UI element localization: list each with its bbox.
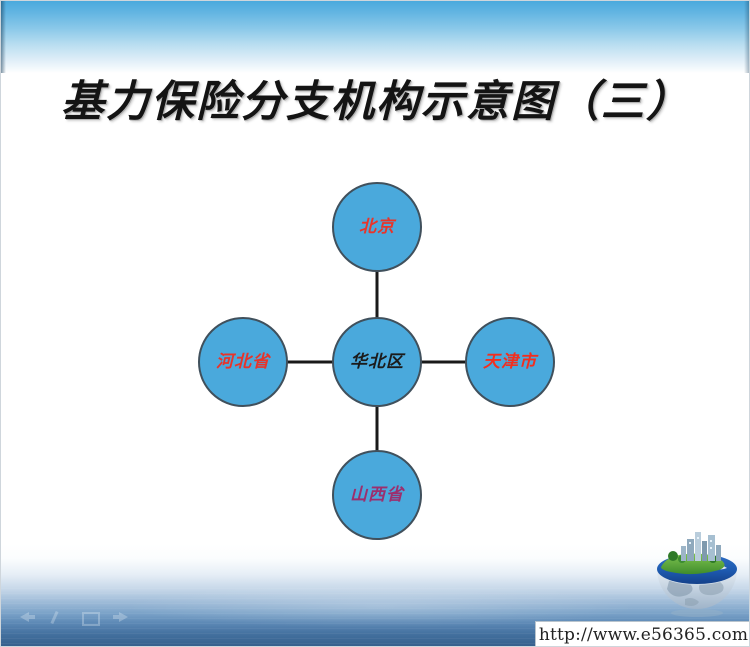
watermark-url-text: http://www.e56365.com bbox=[539, 625, 748, 645]
globe-reflection bbox=[671, 609, 723, 617]
city-skyline bbox=[681, 532, 721, 561]
node-tianjin-city[interactable]: 天津市 bbox=[465, 317, 555, 407]
tree-icon bbox=[668, 551, 678, 561]
node-north-china-region-label: 华北区 bbox=[350, 354, 404, 371]
node-beijing-label: 北京 bbox=[359, 219, 395, 236]
node-shanxi-province[interactable]: 山西省 bbox=[332, 450, 422, 540]
node-beijing[interactable]: 北京 bbox=[332, 182, 422, 272]
watermark-url-bar: http://www.e56365.com bbox=[535, 621, 750, 647]
node-hebei-province[interactable]: 河北省 bbox=[198, 317, 288, 407]
node-hebei-province-label: 河北省 bbox=[216, 354, 270, 371]
presentation-slide: 基力保险分支机构示意图（三） 北京 河北省 华北区 天津市 bbox=[0, 0, 750, 647]
node-tianjin-city-label: 天津市 bbox=[483, 354, 537, 371]
node-shanxi-province-label: 山西省 bbox=[350, 487, 404, 504]
node-north-china-region[interactable]: 华北区 bbox=[332, 317, 422, 407]
org-chart-diagram: 北京 河北省 华北区 天津市 山西省 bbox=[1, 1, 750, 647]
globe-city-logo bbox=[651, 529, 743, 621]
